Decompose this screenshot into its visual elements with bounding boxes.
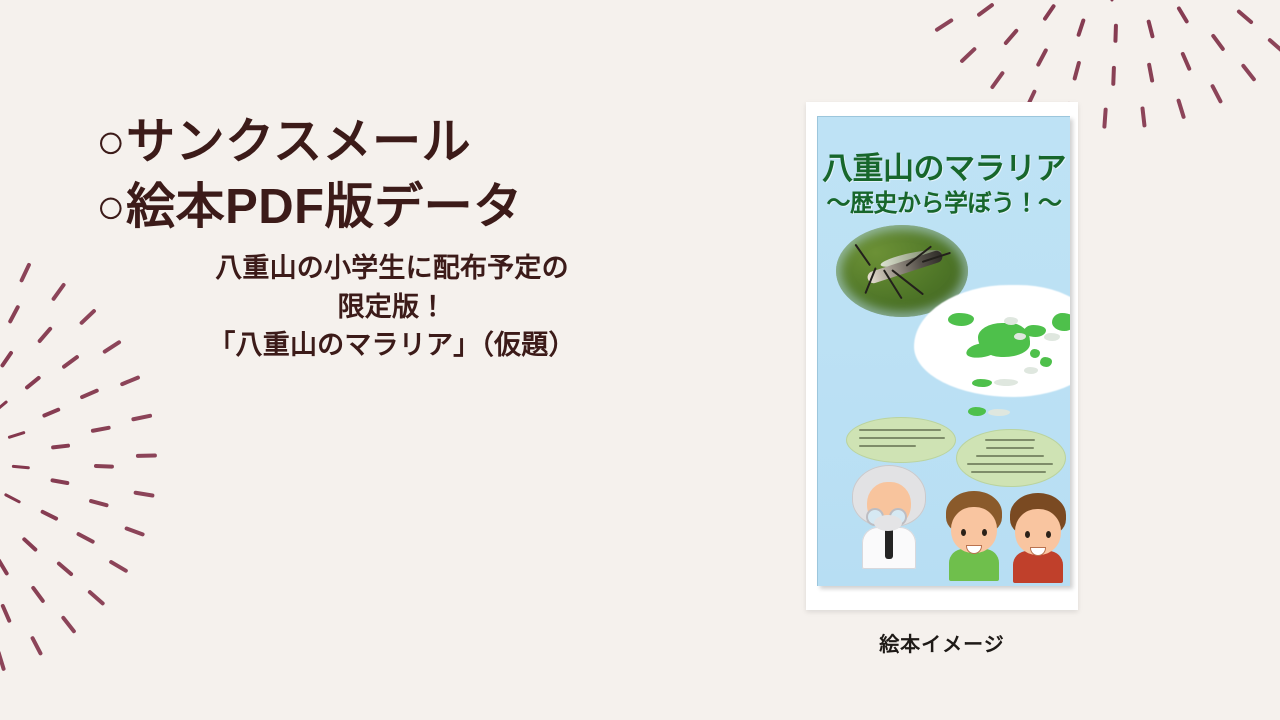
burst-dash xyxy=(8,305,21,324)
professor-necktie xyxy=(885,529,893,559)
character-child-green xyxy=(946,491,1002,583)
burst-dash xyxy=(1147,62,1154,82)
burst-dash xyxy=(91,425,111,432)
burst-dash xyxy=(56,561,74,577)
child-green-face xyxy=(951,507,997,553)
book-cover-subtitle: 〜歴史から学ぼう！〜 xyxy=(818,183,1070,218)
burst-dash xyxy=(1176,98,1186,119)
burst-dash xyxy=(1072,61,1081,81)
burst-dash xyxy=(1210,84,1223,104)
burst-dash xyxy=(1114,24,1118,43)
burst-dash xyxy=(42,407,61,418)
burst-dash xyxy=(1211,33,1226,51)
burst-dash xyxy=(4,493,22,504)
burst-dash xyxy=(61,354,79,369)
burst-dash xyxy=(24,375,41,390)
burst-dash xyxy=(79,388,99,399)
burst-dash xyxy=(1043,4,1057,22)
burst-dash xyxy=(87,589,105,606)
burst-dash xyxy=(1110,0,1115,2)
burst-dash xyxy=(76,531,95,544)
headline-line-2: ○絵本PDF版データ xyxy=(96,175,716,240)
book-figure: 八重山のマラリア 〜歴史から学ぼう！〜 xyxy=(806,102,1078,657)
burst-dash xyxy=(1180,51,1191,71)
burst-dash xyxy=(990,70,1006,89)
book-cover: 八重山のマラリア 〜歴史から学ぼう！〜 xyxy=(817,116,1070,586)
burst-dash xyxy=(8,431,26,440)
burst-dash xyxy=(124,526,145,537)
burst-dash xyxy=(1111,66,1116,86)
burst-dash xyxy=(94,464,114,469)
burst-dash xyxy=(1077,18,1086,37)
burst-dash xyxy=(51,443,70,449)
burst-dash xyxy=(1140,106,1146,127)
book-cover-title: 八重山のマラリア xyxy=(818,143,1070,188)
slide-canvas: ○サンクスメール ○絵本PDF版データ 八重山の小学生に配布予定の 限定版！ 「… xyxy=(0,0,1280,720)
burst-dash xyxy=(976,3,994,18)
burst-dash xyxy=(1147,19,1155,38)
burst-dash xyxy=(1267,37,1280,54)
burst-dash xyxy=(30,636,43,656)
burst-dash xyxy=(31,585,46,603)
burst-dash xyxy=(108,559,128,573)
burst-dash xyxy=(22,537,38,553)
burst-dash xyxy=(131,413,152,421)
burst-dash xyxy=(40,509,59,521)
mosquito-leg xyxy=(854,244,870,266)
burst-dash xyxy=(0,558,9,576)
burst-dash xyxy=(1036,48,1049,67)
character-professor xyxy=(852,465,926,575)
character-child-red xyxy=(1010,493,1066,585)
burst-dash xyxy=(61,615,77,634)
text-block: ○サンクスメール ○絵本PDF版データ 八重山の小学生に配布予定の 限定版！ 「… xyxy=(96,110,716,364)
speech-bubble-professor xyxy=(846,417,956,463)
book-card: 八重山のマラリア 〜歴史から学ぼう！〜 xyxy=(806,102,1078,610)
burst-dash xyxy=(0,400,8,414)
burst-dash xyxy=(1102,107,1107,128)
burst-dash xyxy=(1241,63,1257,82)
subtext-line-1: 八重山の小学生に配布予定の xyxy=(96,249,688,287)
burst-dash xyxy=(50,478,69,485)
headline-line-1: ○サンクスメール xyxy=(96,110,716,175)
subtext-line-2: 限定版！ xyxy=(96,288,688,326)
burst-dash xyxy=(133,490,154,497)
burst-dash xyxy=(1003,28,1019,46)
book-caption: 絵本イメージ xyxy=(806,628,1078,657)
burst-dash xyxy=(0,603,11,623)
burst-dash xyxy=(959,46,977,63)
burst-dash xyxy=(934,18,954,33)
burst-dash xyxy=(37,326,53,344)
burst-dash xyxy=(136,454,157,458)
subtext-line-3: 「八重山のマラリア」（仮題） xyxy=(96,326,688,364)
burst-dash xyxy=(79,308,97,325)
burst-dash xyxy=(1177,6,1190,24)
professor-mustache xyxy=(874,515,902,531)
burst-dash xyxy=(19,262,32,283)
subtext-block: 八重山の小学生に配布予定の 限定版！ 「八重山のマラリア」（仮題） xyxy=(96,249,716,364)
burst-dash xyxy=(12,465,30,470)
burst-dash xyxy=(0,650,6,671)
speech-bubble-children xyxy=(956,429,1066,487)
burst-dash xyxy=(120,375,141,387)
burst-dash xyxy=(89,499,109,508)
burst-dash xyxy=(0,350,13,368)
burst-dash xyxy=(1236,9,1254,25)
child-red-face xyxy=(1015,509,1061,555)
burst-dash xyxy=(51,282,67,301)
